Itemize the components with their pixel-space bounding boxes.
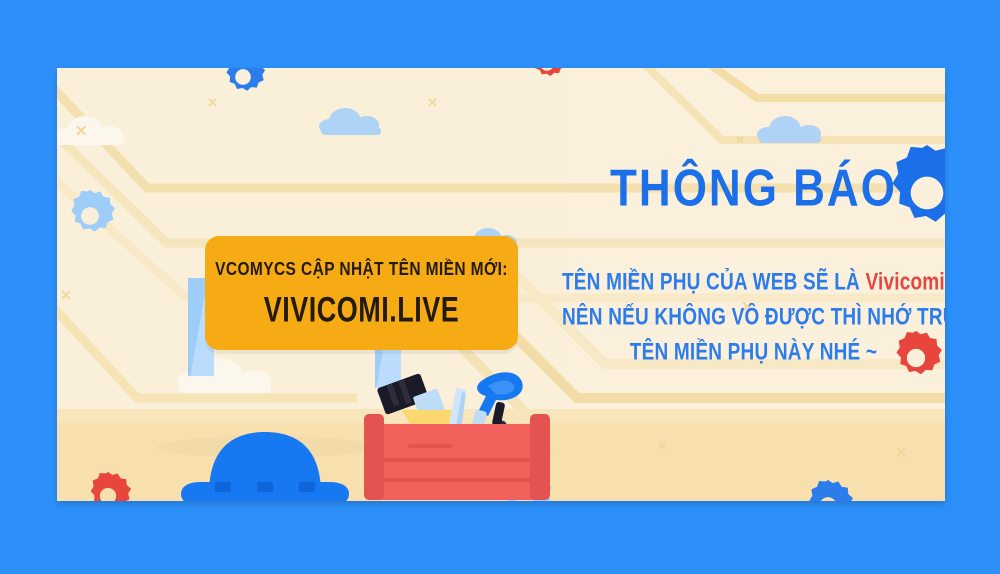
x-mark-icon: ✕	[427, 96, 438, 109]
domain-highlight: Vivicomi.co	[865, 269, 945, 295]
gear-top-red-icon	[527, 68, 567, 84]
announcement-line-text: NÊN NẾU KHÔNG VÔ ĐƯỢC THÌ NHỚ TRUY CẬP	[562, 304, 945, 330]
announcement-line-text: TÊN MIỀN PHỤ CỦA WEB SẼ LÀ	[562, 269, 865, 295]
toolbox-icon	[362, 358, 552, 501]
banner-stage: ✕ ✕ ✕ ✕ ✕ ✕ ✕ ✕ ✕ ✕	[0, 0, 1000, 574]
announcement-line: TÊN MIỀN PHỤ NÀY NHÉ ~	[562, 331, 945, 375]
page-title: THÔNG BÁO	[562, 160, 945, 219]
cloud-blue-mid	[319, 108, 383, 134]
gear-bottom-red-icon	[84, 472, 132, 501]
x-mark-icon: ✕	[207, 96, 218, 109]
announcement-body: TÊN MIỀN PHỤ CỦA WEB SẼ LÀ Vivicomi.co N…	[562, 265, 945, 370]
domain-sign[interactable]: VCOMYCS CẬP NHẬT TÊN MIỀN MỚI: VIVICOMI.…	[205, 236, 518, 350]
gear-top-blue-icon	[220, 68, 266, 100]
announcement-text-column: THÔNG BÁO TÊN MIỀN PHỤ CỦA WEB SẼ LÀ Viv…	[562, 68, 945, 501]
sign-line-1: VCOMYCS CẬP NHẬT TÊN MIỀN MỚI:	[215, 259, 508, 281]
announcement-line-text: TÊN MIỀN PHỤ NÀY NHÉ ~	[630, 339, 877, 365]
sign-line-2: VIVICOMI.LIVE	[264, 290, 460, 330]
hard-hat-icon	[175, 420, 355, 501]
cloud-white-left	[57, 116, 127, 144]
announcement-card: ✕ ✕ ✕ ✕ ✕ ✕ ✕ ✕ ✕ ✕	[57, 68, 945, 501]
x-mark-icon: ✕	[75, 124, 88, 139]
x-mark-icon: ✕	[60, 288, 72, 302]
gear-left-lightblue-icon	[64, 190, 116, 242]
